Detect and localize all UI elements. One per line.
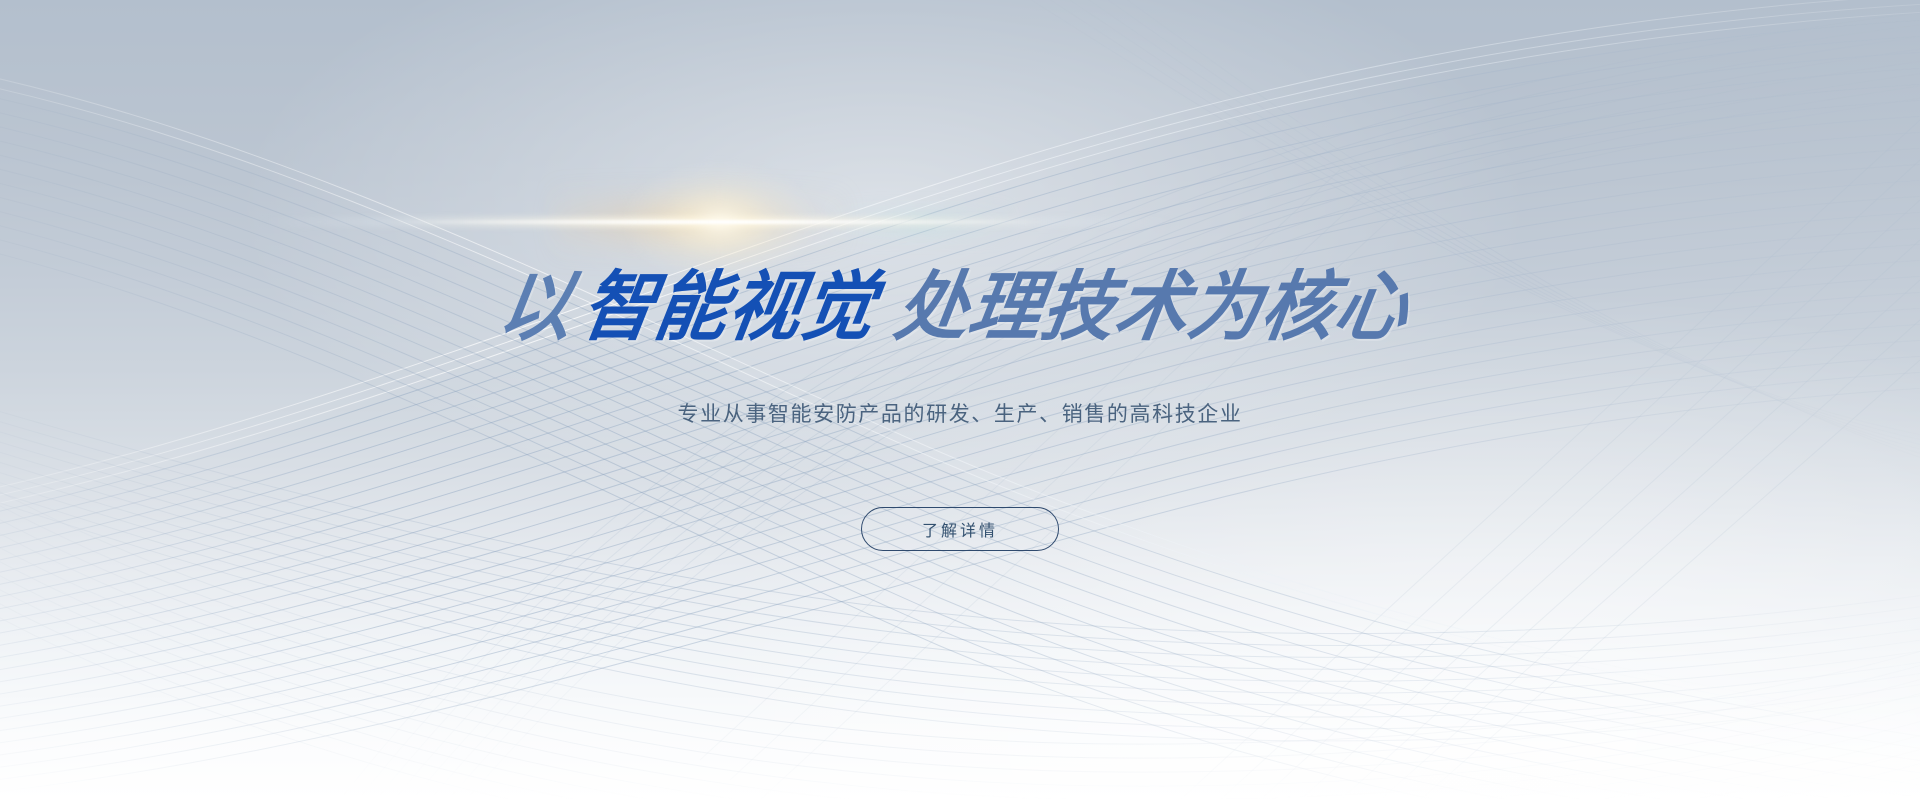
lens-flare-cool-ghost bbox=[830, 202, 1010, 244]
headline-segment-3: 处理技术为核心 bbox=[890, 270, 1414, 346]
lens-flare-streak bbox=[260, 217, 1180, 227]
headline-segment-1: 以 bbox=[494, 270, 579, 346]
background-light-wash bbox=[0, 0, 1920, 800]
hero-banner: 以智能视觉处理技术为核心 专业从事智能安防产品的研发、生产、销售的高科技企业 了… bbox=[0, 0, 1920, 800]
lens-flare-warm-glow bbox=[550, 182, 850, 262]
flowing-wave-lines bbox=[0, 0, 1920, 800]
learn-more-button[interactable]: 了解详情 bbox=[861, 507, 1059, 551]
hero-content: 以智能视觉处理技术为核心 专业从事智能安防产品的研发、生产、销售的高科技企业 了… bbox=[0, 0, 1920, 800]
headline-segment-2: 智能视觉 bbox=[577, 270, 882, 346]
hero-subtitle: 专业从事智能安防产品的研发、生产、销售的高科技企业 bbox=[678, 400, 1243, 429]
lens-flare-streak-hot bbox=[390, 220, 1050, 224]
page-title: 以智能视觉处理技术为核心 bbox=[498, 270, 1422, 346]
lens-flare-core bbox=[625, 164, 815, 280]
